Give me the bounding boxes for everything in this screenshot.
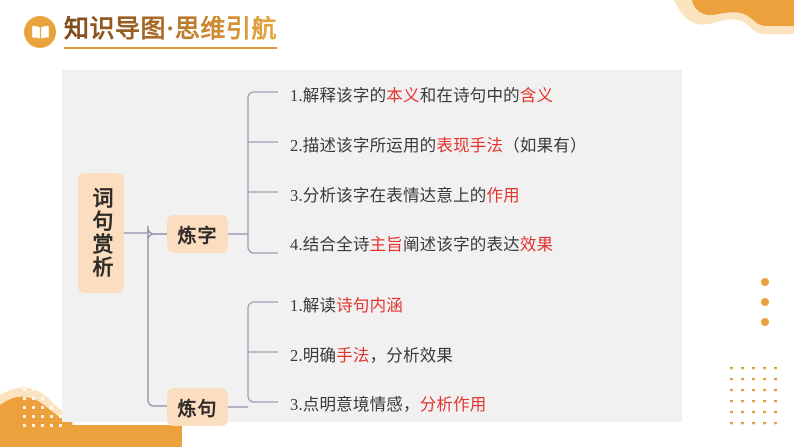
leaf-text: ，分析效果 bbox=[370, 346, 454, 365]
bottom-right-dot-grid-decoration bbox=[728, 365, 786, 435]
mindmap-root-node[interactable]: 词句赏析 bbox=[78, 173, 124, 293]
decor-dot bbox=[761, 298, 769, 306]
leaf-text: 2.描述该字所运用的 bbox=[290, 136, 436, 155]
leaf-text: 3.点明意境情感， bbox=[290, 395, 420, 414]
mindmap-leaf: 2.描述该字所运用的表现手法（如果有） bbox=[290, 132, 587, 156]
leaf-text: 4.结合全诗 bbox=[290, 235, 370, 254]
mindmap-branch-node-lianju[interactable]: 炼句 bbox=[167, 388, 228, 426]
leaf-text: （如果有） bbox=[503, 136, 587, 155]
mindmap-leaf: 3.点明意境情感，分析作用 bbox=[290, 391, 487, 415]
leaf-text-highlight: 含义 bbox=[520, 86, 553, 105]
leaf-text-highlight: 本义 bbox=[386, 86, 419, 105]
mindmap-leaf: 2.明确手法，分析效果 bbox=[290, 342, 453, 366]
mindmap-leaf: 1.解释该字的本义和在诗句中的含义 bbox=[290, 82, 553, 106]
leaf-text: 1.解释该字的 bbox=[290, 86, 386, 105]
leaf-text-highlight: 效果 bbox=[520, 235, 553, 254]
leaf-text: 阐述该字的表达 bbox=[403, 235, 520, 254]
leaf-text: 2.明确 bbox=[290, 346, 336, 365]
leaf-text: 1.解读 bbox=[290, 296, 336, 315]
leaf-text-highlight: 诗句内涵 bbox=[336, 296, 403, 315]
mindmap-leaf: 4.结合全诗主旨阐述该字的表达效果 bbox=[290, 231, 553, 255]
mindmap-leaf: 3.分析该字在表情达意上的作用 bbox=[290, 182, 520, 206]
page-title: 知识导图·思维引航 bbox=[64, 16, 277, 49]
page-header: 知识导图·思维引航 bbox=[24, 16, 277, 49]
decor-dot bbox=[761, 278, 769, 286]
leaf-text: 和在诗句中的 bbox=[420, 86, 520, 105]
mindmap-leaf: 1.解读诗句内涵 bbox=[290, 292, 403, 316]
leaf-text-highlight: 主旨 bbox=[370, 235, 403, 254]
leaf-text: 3.分析该字在表情达意上的 bbox=[290, 186, 486, 205]
leaf-text-highlight: 表现手法 bbox=[436, 136, 503, 155]
leaf-text-highlight: 手法 bbox=[336, 346, 369, 365]
open-book-icon bbox=[24, 16, 56, 48]
mindmap-branch-node-lianzi[interactable]: 炼字 bbox=[167, 215, 228, 253]
orange-dots-decoration bbox=[761, 278, 769, 338]
mindmap-panel: 词句赏析 炼字 炼句 1.解释该字的本义和在诗句中的含义 2.描述该字所运用的表… bbox=[62, 70, 682, 422]
bottom-left-dot-grid-decoration bbox=[22, 387, 64, 431]
leaf-text-highlight: 作用 bbox=[486, 186, 519, 205]
top-right-corner-decoration bbox=[614, 0, 794, 34]
decor-dot bbox=[761, 318, 769, 326]
leaf-text-highlight: 分析作用 bbox=[420, 395, 487, 414]
